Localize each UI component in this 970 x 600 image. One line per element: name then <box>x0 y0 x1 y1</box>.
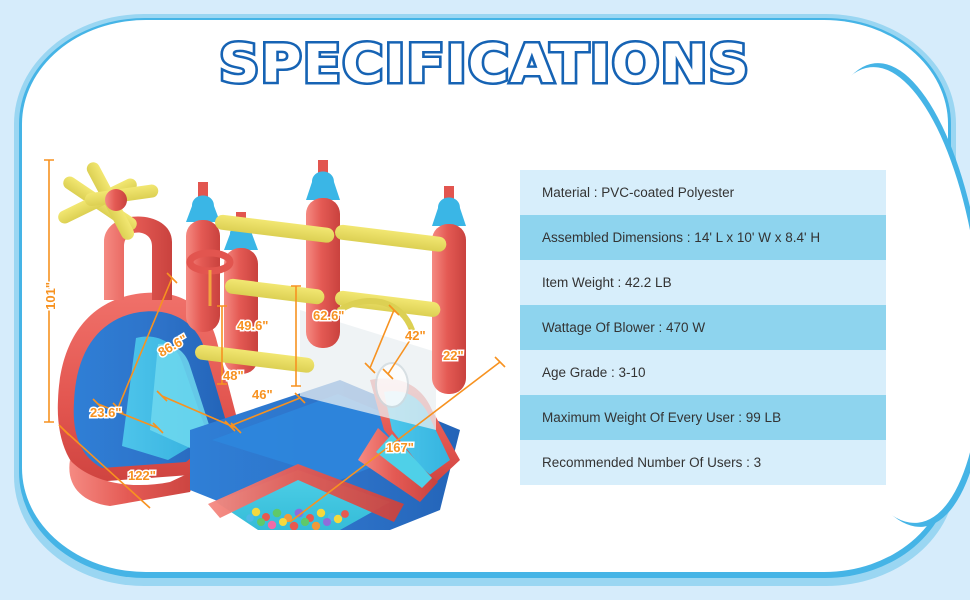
climbing-arch <box>104 217 172 301</box>
spec-row-recommended-users: Recommended Number Of Users : 3 <box>520 440 886 485</box>
page-title-container: SPECIFICATIONS <box>0 36 970 94</box>
spec-row-wattage-of-blower: Wattage Of Blower : 470 W <box>520 305 886 350</box>
dimension-right-slide-width: 22" <box>443 348 464 363</box>
dimension-pool-depth: 46" <box>252 387 273 402</box>
spec-row-age-grade: Age Grade : 3-10 <box>520 350 886 395</box>
spec-row-item-weight: Item Weight : 42.2 LB <box>520 260 886 305</box>
product-diagram <box>40 130 510 530</box>
spec-row-assembled-dimensions: Assembled Dimensions : 14' L x 10' W x 8… <box>520 215 886 260</box>
dimension-slide-base-width: 23.6" <box>90 405 121 420</box>
dimension-pool-width: 48" <box>223 368 244 383</box>
dimension-right-slide-height: 42" <box>405 328 426 343</box>
page-title: SPECIFICATIONS <box>219 36 750 94</box>
dimension-overall-height: 101" <box>43 282 58 310</box>
specifications-table: Material : PVC-coated Polyester Assemble… <box>520 170 886 485</box>
dimension-overall-length: 167" <box>386 440 414 455</box>
mesh-window <box>376 363 408 407</box>
specifications-page: SPECIFICATIONS <box>0 0 970 600</box>
dimension-wall-height: 49.6" <box>237 318 268 333</box>
dimension-tower-height: 62.6" <box>313 308 344 323</box>
dimension-overall-depth: 122" <box>128 468 156 483</box>
spec-row-material: Material : PVC-coated Polyester <box>520 170 886 215</box>
spec-row-maximum-weight: Maximum Weight Of Every User : 99 LB <box>520 395 886 440</box>
